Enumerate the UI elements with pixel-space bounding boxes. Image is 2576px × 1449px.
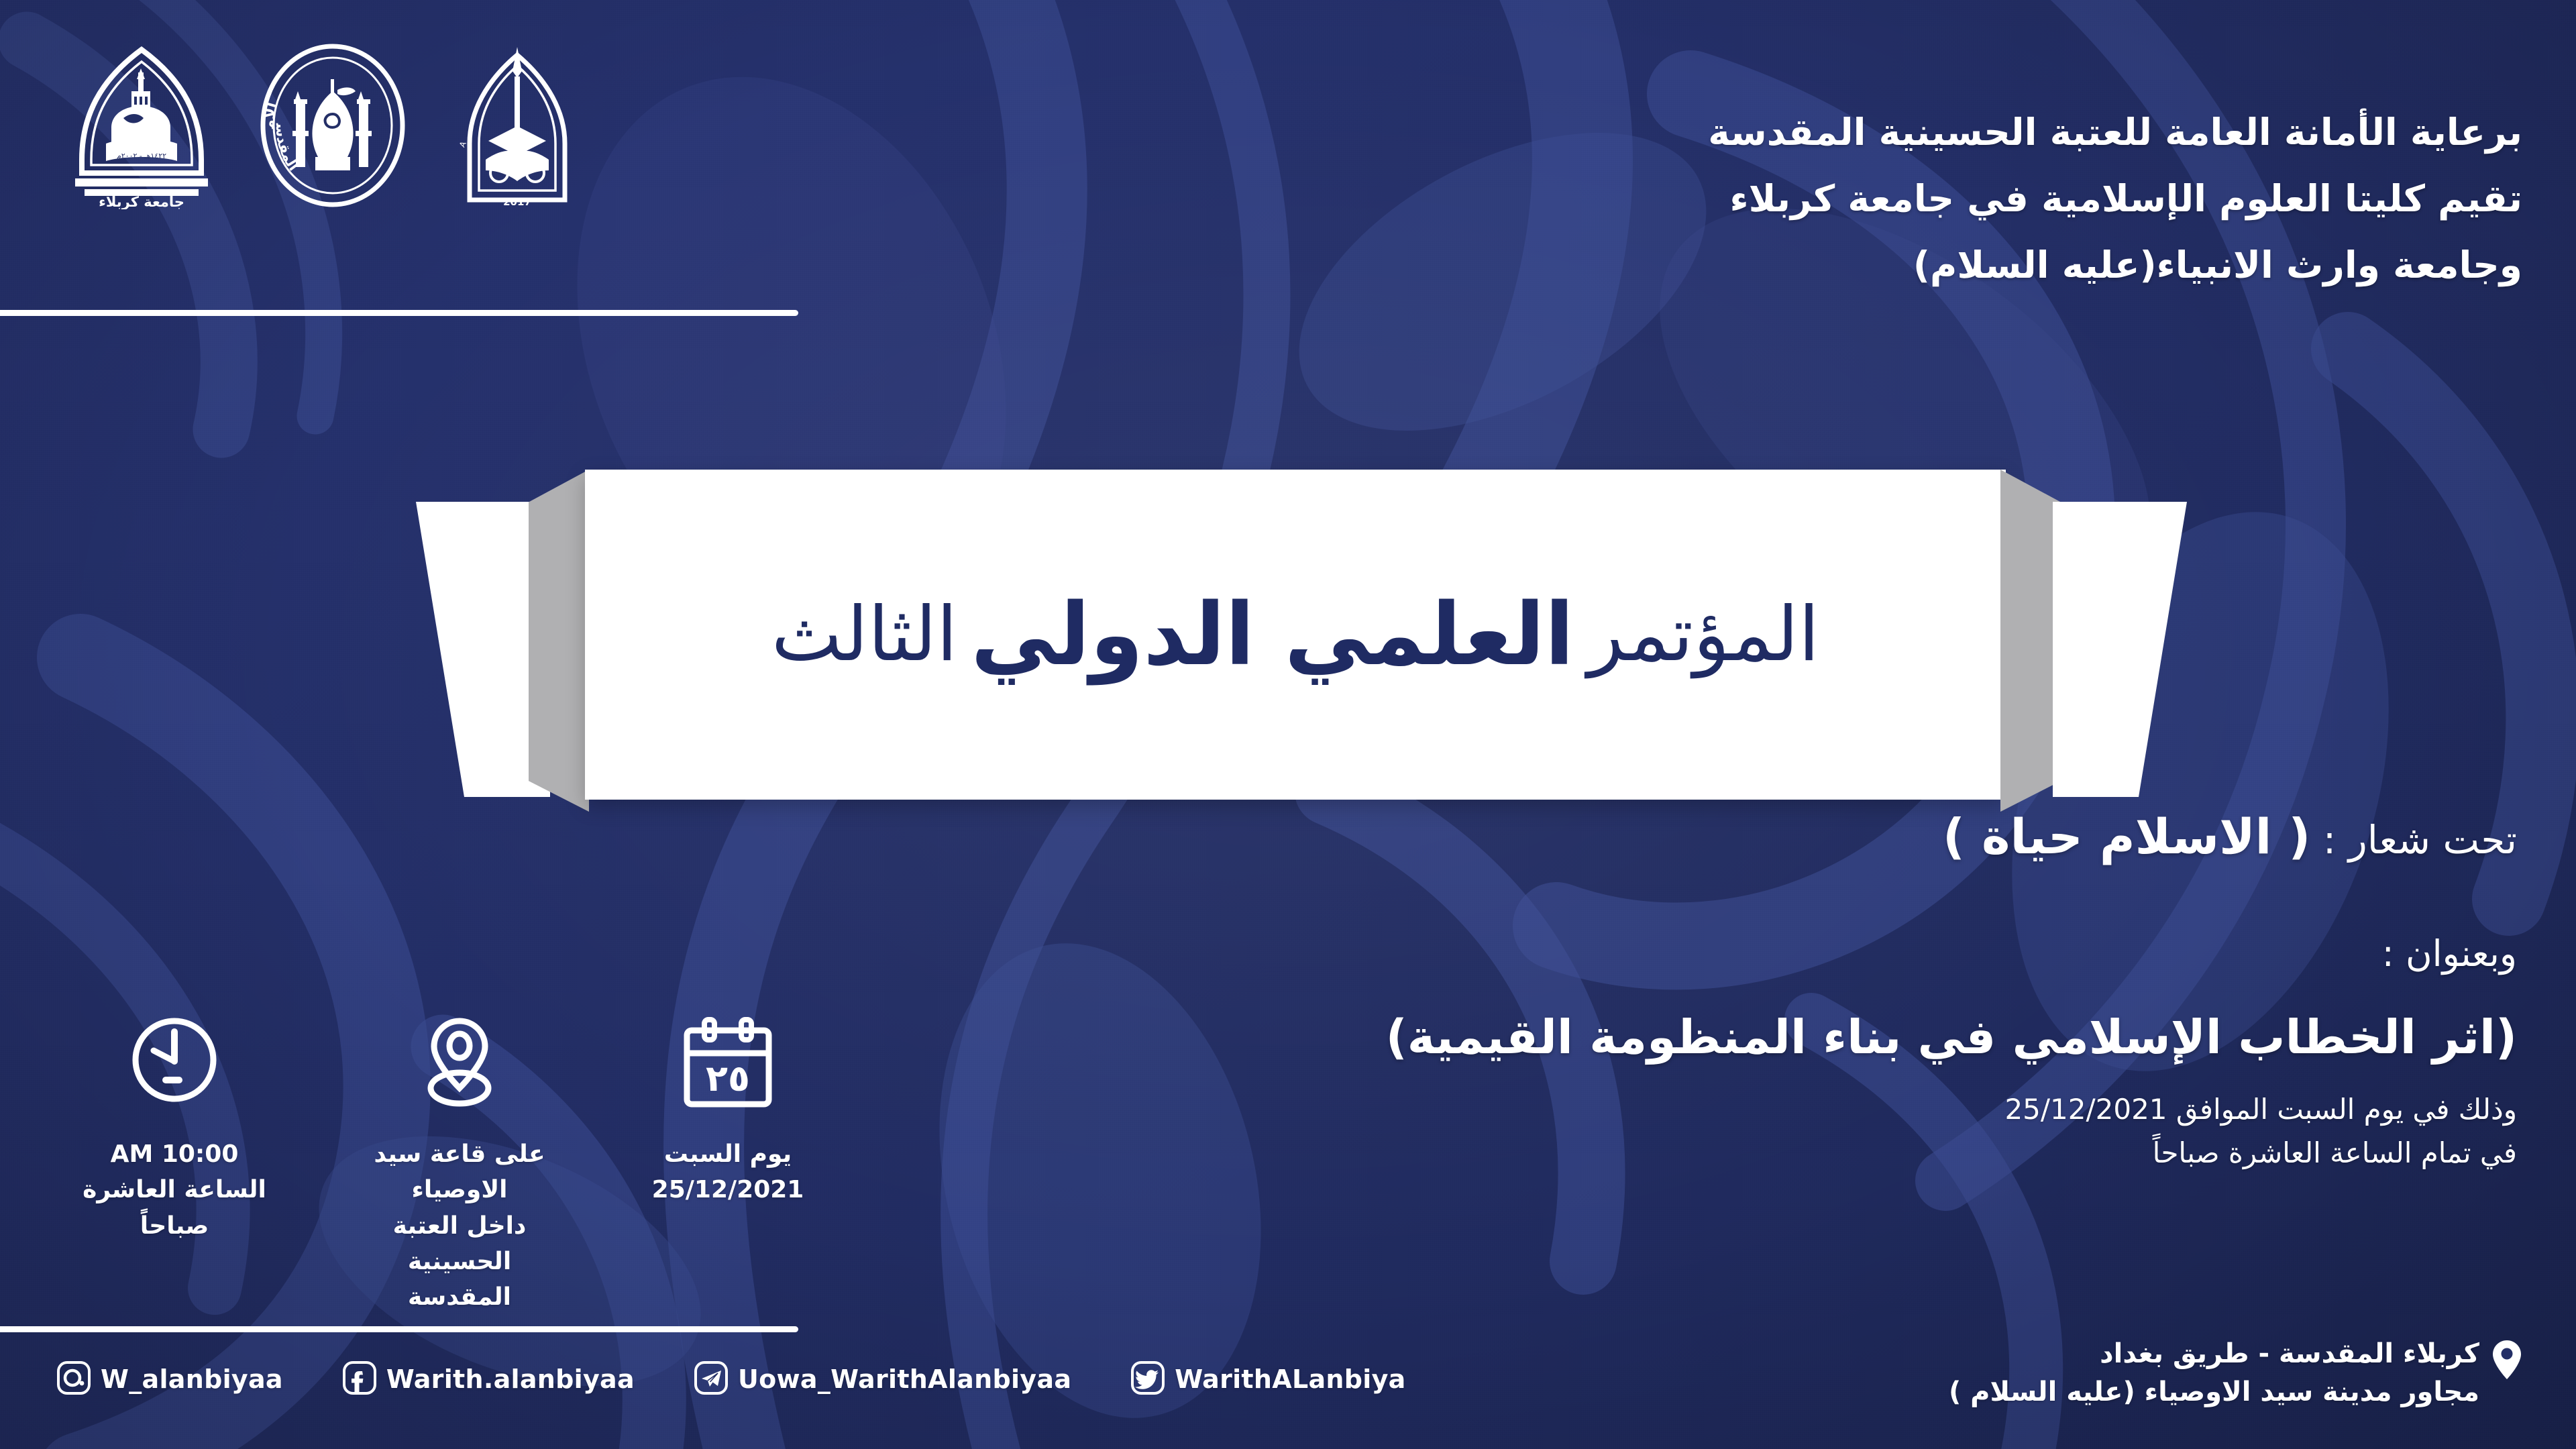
- info-date-line-2: 25/12/2021: [652, 1172, 804, 1207]
- title-main: العلمي الدولي: [971, 585, 1574, 685]
- calendar-icon: ٢٥: [678, 1000, 778, 1127]
- slogan-label: تحت شعار :: [2310, 817, 2517, 863]
- slogan-line: تحت شعار : ( الاسلام حياة ): [1943, 808, 2517, 865]
- social-bar: W_alanbiyaa Warith.alanbiyaa Uowa_Warith…: [56, 1360, 1406, 1398]
- title-prefix: المؤتمر: [1588, 591, 1820, 678]
- info-time-line-2: الساعة العاشرة صباحاً: [74, 1172, 275, 1244]
- info-venue-line-1: على قاعة سيد الاوصياء: [349, 1136, 570, 1208]
- address-block: كربلاء المقدسة - طريق بغداد مجاور مدينة …: [1949, 1335, 2522, 1411]
- info-time-line-1: 10:00 AM: [74, 1136, 275, 1172]
- address-text: كربلاء المقدسة - طريق بغداد مجاور مدينة …: [1949, 1335, 2479, 1411]
- social-instagram-handle[interactable]: W_alanbiyaa: [101, 1364, 283, 1394]
- divider-top: [0, 310, 798, 316]
- svg-text:الامانة العامة: الامانة العامة: [256, 42, 281, 129]
- social-instagram[interactable]: W_alanbiyaa: [56, 1360, 283, 1398]
- subject-block: وبعنوان : (اثر الخطاب الإسلامي في بناء ا…: [1386, 932, 2517, 1180]
- event-info-row: ٢٥ يوم السبت 25/12/2021 على قاعة سيد الا…: [74, 1000, 812, 1315]
- logo-al-abbas-holy-shrine-general-secretariat: الامانة العامة المقدسة: [256, 42, 409, 209]
- facebook-icon[interactable]: [342, 1360, 377, 1398]
- svg-text:جامعة كربلاء: جامعة كربلاء: [99, 194, 184, 209]
- info-venue-line-2: داخل العتبة الحسينية: [349, 1208, 570, 1280]
- svg-text:2017: 2017: [503, 196, 531, 208]
- info-item-time: 10:00 AM الساعة العاشرة صباحاً: [74, 1000, 275, 1244]
- conference-title: المؤتمر العلمي الدولي الثالث: [585, 470, 2006, 800]
- header-line-1: برعاية الأمانة العامة للعتبة الحسينية ال…: [1708, 114, 2522, 151]
- logo-university-of-karbala: ١٤٢٢هـ - ٢٠٠٢م جامعة كربلاء: [64, 42, 219, 209]
- social-twitter[interactable]: WarithALanbiya: [1130, 1360, 1405, 1398]
- info-date-line-1: يوم السبت: [652, 1136, 804, 1172]
- clock-icon: [124, 1000, 225, 1127]
- divider-bottom: [0, 1326, 798, 1332]
- header-line-3: وجامعة وارث الانبياء(عليه السلام): [1708, 247, 2522, 284]
- svg-text:UNIVERSITY OF WARITH AL-ANBIYA: UNIVERSITY OF WARITH AL-ANBIYAA: [447, 42, 468, 149]
- conference-poster: 2017 UNIVERSITY OF WARITH AL-ANBIYAA: [0, 0, 2576, 1449]
- calendar-badge-number: ٢٥: [706, 1057, 750, 1099]
- logo-university-of-warith-al-anbiyaa: 2017 UNIVERSITY OF WARITH AL-ANBIYAA: [447, 42, 588, 209]
- info-venue-line-3: المقدسة: [349, 1279, 570, 1315]
- subject-date-line: وذلك في يوم السبت الموافق 25/12/2021: [1386, 1093, 2517, 1126]
- social-twitter-handle[interactable]: WarithALanbiya: [1175, 1364, 1405, 1394]
- address-line-2: مجاور مدينة سيد الاوصياء (عليه السلام ): [1949, 1373, 2479, 1411]
- svg-text:١٤٢٢هـ - ٢٠٠٢م: ١٤٢٢هـ - ٢٠٠٢م: [117, 152, 166, 160]
- twitter-icon[interactable]: [1130, 1360, 1165, 1398]
- telegram-icon[interactable]: [694, 1360, 729, 1398]
- location-pin-icon: [409, 1000, 510, 1127]
- subject-label: وبعنوان :: [1386, 932, 2517, 975]
- title-ribbon: المؤتمر العلمي الدولي الثالث: [416, 470, 2173, 812]
- logo-row: 2017 UNIVERSITY OF WARITH AL-ANBIYAA: [64, 42, 588, 209]
- info-item-venue: على قاعة سيد الاوصياء داخل العتبة الحسين…: [349, 1000, 570, 1315]
- info-venue-lines: على قاعة سيد الاوصياء داخل العتبة الحسين…: [349, 1136, 570, 1315]
- subject-title: (اثر الخطاب الإسلامي في بناء المنظومة ال…: [1386, 1010, 2517, 1065]
- social-facebook[interactable]: Warith.alanbiyaa: [342, 1360, 635, 1398]
- social-facebook-handle[interactable]: Warith.alanbiyaa: [386, 1364, 635, 1394]
- ribbon-fold-right: [2000, 470, 2061, 812]
- location-pin-icon: [2491, 1339, 2522, 1383]
- social-telegram-handle[interactable]: Uowa_WarithAlanbiyaa: [738, 1364, 1071, 1394]
- ribbon-tail-right: [2053, 502, 2187, 797]
- subject-time-line: في تمام الساعة العاشرة صباحاً: [1386, 1136, 2517, 1169]
- address-line-1: كربلاء المقدسة - طريق بغداد: [1949, 1335, 2479, 1373]
- ribbon-fold-left: [529, 470, 589, 812]
- info-time-lines: 10:00 AM الساعة العاشرة صباحاً: [74, 1136, 275, 1244]
- info-item-date: ٢٥ يوم السبت 25/12/2021: [644, 1000, 812, 1208]
- title-suffix: الثالث: [771, 591, 957, 678]
- instagram-icon[interactable]: [56, 1360, 91, 1398]
- social-telegram[interactable]: Uowa_WarithAlanbiyaa: [694, 1360, 1071, 1398]
- slogan-value: ( الاسلام حياة ): [1943, 808, 2310, 865]
- header-block: برعاية الأمانة العامة للعتبة الحسينية ال…: [1708, 114, 2522, 284]
- header-line-2: تقيم كليتا العلوم الإسلامية في جامعة كرب…: [1708, 180, 2522, 217]
- info-date-lines: يوم السبت 25/12/2021: [652, 1136, 804, 1208]
